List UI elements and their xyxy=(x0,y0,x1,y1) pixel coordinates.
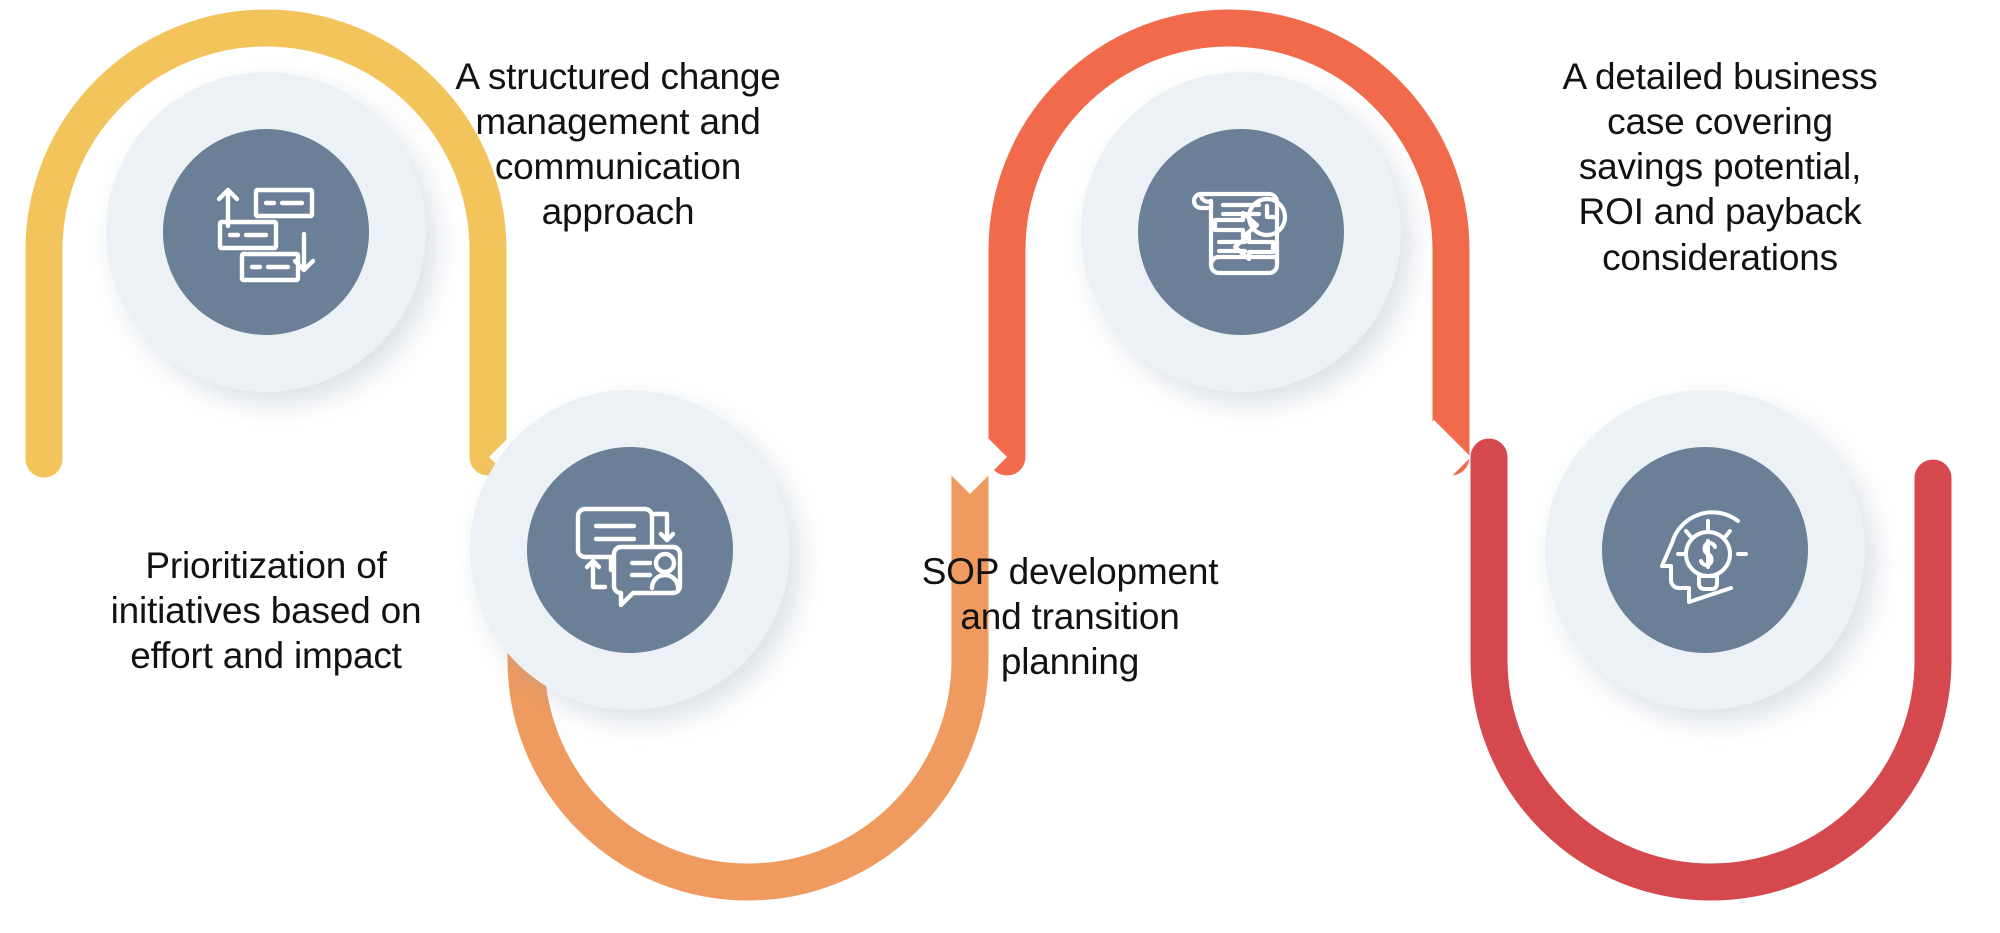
step-caption-1: Prioritization of initiatives based on e… xyxy=(46,543,486,678)
step-caption-3: SOP development and transition planning xyxy=(850,549,1290,684)
step-node-3[interactable] xyxy=(1081,72,1401,392)
two-way-communication-icon xyxy=(527,447,733,653)
step-caption-4: A detailed business case covering saving… xyxy=(1500,54,1940,280)
infographic-canvas: Prioritization of initiatives based on e… xyxy=(0,0,2000,933)
step-node-2[interactable] xyxy=(470,390,790,710)
step-node-1[interactable] xyxy=(106,72,426,392)
step-caption-2: A structured change management and commu… xyxy=(398,54,838,235)
prioritization-matrix-icon xyxy=(163,129,369,335)
step-node-4[interactable] xyxy=(1545,390,1865,710)
sop-document-clock-icon xyxy=(1138,129,1344,335)
head-lightbulb-dollar-icon xyxy=(1602,447,1808,653)
